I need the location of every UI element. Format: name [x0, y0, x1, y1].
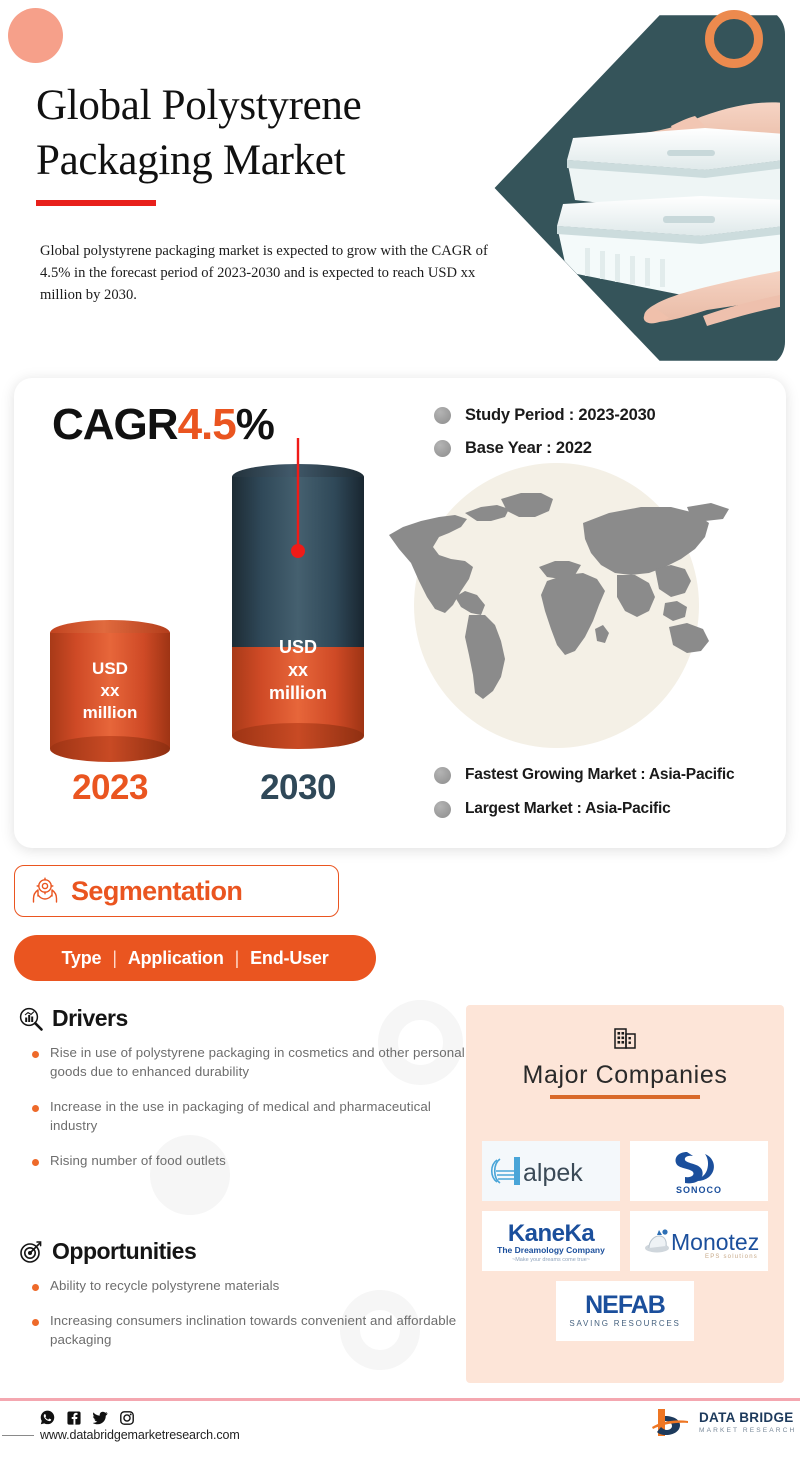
- stats-bullets-bottom: Fastest Growing Market : Asia-Pacific La…: [434, 766, 734, 832]
- company-logo-alpek: alpek: [482, 1141, 620, 1201]
- cagr-headline: CAGR4.5%: [52, 400, 274, 450]
- driver-text-1: Rise in use of polystyrene packaging in …: [50, 1044, 473, 1082]
- kaneka-tagline: The Dreamology Company: [497, 1245, 605, 1255]
- segmentation-header-pill: Segmentation: [14, 865, 339, 917]
- stat-text-base-year: Base Year : 2022: [465, 439, 592, 458]
- svg-text:SONOCO: SONOCO: [676, 1185, 722, 1195]
- cagr-label: CAGR: [52, 400, 178, 449]
- bullet-dot-icon: [32, 1284, 39, 1291]
- nefab-tagline: SAVING RESOURCES: [569, 1319, 680, 1328]
- hands-holding-target-icon: [29, 875, 61, 907]
- segment-application[interactable]: Application: [128, 948, 224, 969]
- stat-row-largest-market: Largest Market : Asia-Pacific: [434, 800, 734, 818]
- stat-text-largest-market: Largest Market : Asia-Pacific: [465, 800, 671, 818]
- opportunities-title: Opportunities: [52, 1238, 196, 1265]
- twitter-icon[interactable]: [93, 1411, 108, 1425]
- bar-2030-value-label: USDxxmillion: [232, 636, 364, 705]
- bullet-dot-icon: [434, 440, 451, 457]
- salmon-circle-decoration: [8, 8, 63, 63]
- target-dart-icon: [18, 1239, 44, 1265]
- opportunity-item: Increasing consumers inclination towards…: [18, 1312, 473, 1350]
- bullet-dot-icon: [434, 407, 451, 424]
- svg-text:alpek: alpek: [523, 1159, 583, 1187]
- cagr-value: 4.5: [178, 400, 236, 449]
- drivers-section: Drivers Rise in use of polystyrene packa…: [18, 1005, 473, 1186]
- driver-text-3: Rising number of food outlets: [50, 1152, 226, 1171]
- bar-2023-year-label: 2023: [50, 768, 170, 808]
- cagr-pointer-annotation: [286, 438, 310, 566]
- social-links[interactable]: [40, 1410, 134, 1425]
- driver-text-2: Increase in the use in packaging of medi…: [50, 1098, 473, 1136]
- segmentation-title: Segmentation: [71, 876, 242, 907]
- whatsapp-icon[interactable]: [40, 1410, 55, 1425]
- segmentation-categories-bar[interactable]: Type | Application | End-User: [14, 935, 376, 981]
- bullet-dot-icon: [32, 1105, 39, 1112]
- instagram-icon[interactable]: [120, 1411, 134, 1425]
- header-section: Global Polystyrene Packaging Market Glob…: [0, 0, 800, 375]
- bar-2023-value-label: USDxxmillion: [50, 658, 170, 723]
- company-logo-sonoco: SONOCO: [630, 1141, 768, 1201]
- databridge-wordmark: DATA BRIDGE MARKET RESEARCH: [699, 1411, 796, 1434]
- stat-row-fastest-market: Fastest Growing Market : Asia-Pacific: [434, 766, 734, 784]
- svg-text:~Make your dreams come true~: ~Make your dreams come true~: [512, 1257, 590, 1263]
- major-companies-header: Major Companies: [466, 1023, 784, 1099]
- magnifier-chart-icon: [18, 1006, 44, 1032]
- svg-text:EPS solutions: EPS solutions: [705, 1254, 758, 1260]
- opportunities-header: Opportunities: [18, 1238, 473, 1265]
- drivers-title: Drivers: [52, 1005, 128, 1032]
- facebook-icon[interactable]: [67, 1411, 81, 1425]
- bullet-dot-icon: [434, 801, 451, 818]
- sonoco-logo-icon: SONOCO: [659, 1146, 739, 1196]
- bar-2030-bottom: [232, 723, 364, 749]
- driver-item: Rise in use of polystyrene packaging in …: [18, 1044, 473, 1082]
- segment-end-user[interactable]: End-User: [250, 948, 328, 969]
- bullet-dot-icon: [32, 1159, 39, 1166]
- cagr-percent-sign: %: [236, 400, 274, 449]
- brand-subtitle: MARKET RESEARCH: [699, 1428, 796, 1435]
- stat-text-study-period: Study Period : 2023-2030: [465, 406, 656, 425]
- bar-2030-year-label: 2030: [232, 768, 364, 808]
- market-stats-card: CAGR4.5%: [14, 378, 786, 848]
- nefab-logo-icon: NEFAB SAVING RESOURCES: [563, 1288, 687, 1334]
- monotez-logo-icon: Monotez EPS solutions: [635, 1220, 763, 1262]
- world-map-continents: [369, 463, 769, 733]
- bullet-dot-icon: [32, 1319, 39, 1326]
- driver-item: Rising number of food outlets: [18, 1152, 473, 1171]
- infographic-page: Global Polystyrene Packaging Market Glob…: [0, 0, 800, 1460]
- orange-ring-decoration: [705, 10, 763, 68]
- major-companies-title: Major Companies: [466, 1061, 784, 1090]
- major-companies-panel: Major Companies alpek: [466, 1005, 784, 1383]
- segment-type[interactable]: Type: [61, 948, 101, 969]
- bullet-dot-icon: [434, 767, 451, 784]
- building-icon: [610, 1023, 640, 1053]
- title-underline: [36, 200, 156, 206]
- footer-divider: [0, 1398, 800, 1401]
- world-map-graphic: [369, 453, 769, 753]
- subtitle-text: Global polystyrene packaging market is e…: [40, 240, 495, 307]
- company-logo-kaneka: KaneKa The Dreamology Company ~Make your…: [482, 1211, 620, 1271]
- title-line-1: Global Polystyrene: [36, 78, 466, 133]
- kaneka-logo-icon: KaneKa The Dreamology Company ~Make your…: [485, 1215, 617, 1267]
- svg-text:NEFAB: NEFAB: [585, 1291, 665, 1319]
- svg-text:Monotez: Monotez: [671, 1229, 759, 1255]
- opportunity-text-2: Increasing consumers inclination towards…: [50, 1312, 473, 1350]
- opportunity-text-1: Ability to recycle polystyrene materials: [50, 1277, 279, 1296]
- page-title: Global Polystyrene Packaging Market: [36, 78, 466, 206]
- stats-bullets-top: Study Period : 2023-2030 Base Year : 202…: [434, 406, 656, 472]
- databridge-mark-icon: [650, 1405, 692, 1441]
- company-logo-monotez: Monotez EPS solutions: [630, 1211, 768, 1271]
- bullet-dot-icon: [32, 1051, 39, 1058]
- segment-separator: |: [101, 948, 127, 969]
- title-line-2: Packaging Market: [36, 133, 466, 188]
- driver-item: Increase in the use in packaging of medi…: [18, 1098, 473, 1136]
- stat-row-base-year: Base Year : 2022: [434, 439, 656, 458]
- stat-row-study-period: Study Period : 2023-2030: [434, 406, 656, 425]
- brand-name: DATA BRIDGE: [699, 1411, 796, 1425]
- databridge-logo: DATA BRIDGE MARKET RESEARCH: [650, 1405, 796, 1441]
- major-companies-underline: [550, 1095, 700, 1099]
- company-logo-grid: alpek SONOCO KaneKa The Dreamology Compa…: [480, 1141, 770, 1341]
- segment-separator: |: [224, 948, 250, 969]
- bar-2023: USDxxmillion: [50, 620, 170, 762]
- opportunity-item: Ability to recycle polystyrene materials: [18, 1277, 473, 1296]
- svg-text:KaneKa: KaneKa: [508, 1220, 596, 1247]
- opportunities-section: Opportunities Ability to recycle polysty…: [18, 1238, 473, 1366]
- bar-2023-bottom: [50, 736, 170, 762]
- alpek-logo-icon: alpek: [487, 1150, 615, 1192]
- footer-website-url[interactable]: www.databridgemarketresearch.com: [40, 1428, 240, 1442]
- stat-text-fastest-market: Fastest Growing Market : Asia-Pacific: [465, 766, 734, 784]
- drivers-header: Drivers: [18, 1005, 473, 1032]
- company-logo-nefab: NEFAB SAVING RESOURCES: [556, 1281, 694, 1341]
- footer-url-dash: [2, 1435, 34, 1436]
